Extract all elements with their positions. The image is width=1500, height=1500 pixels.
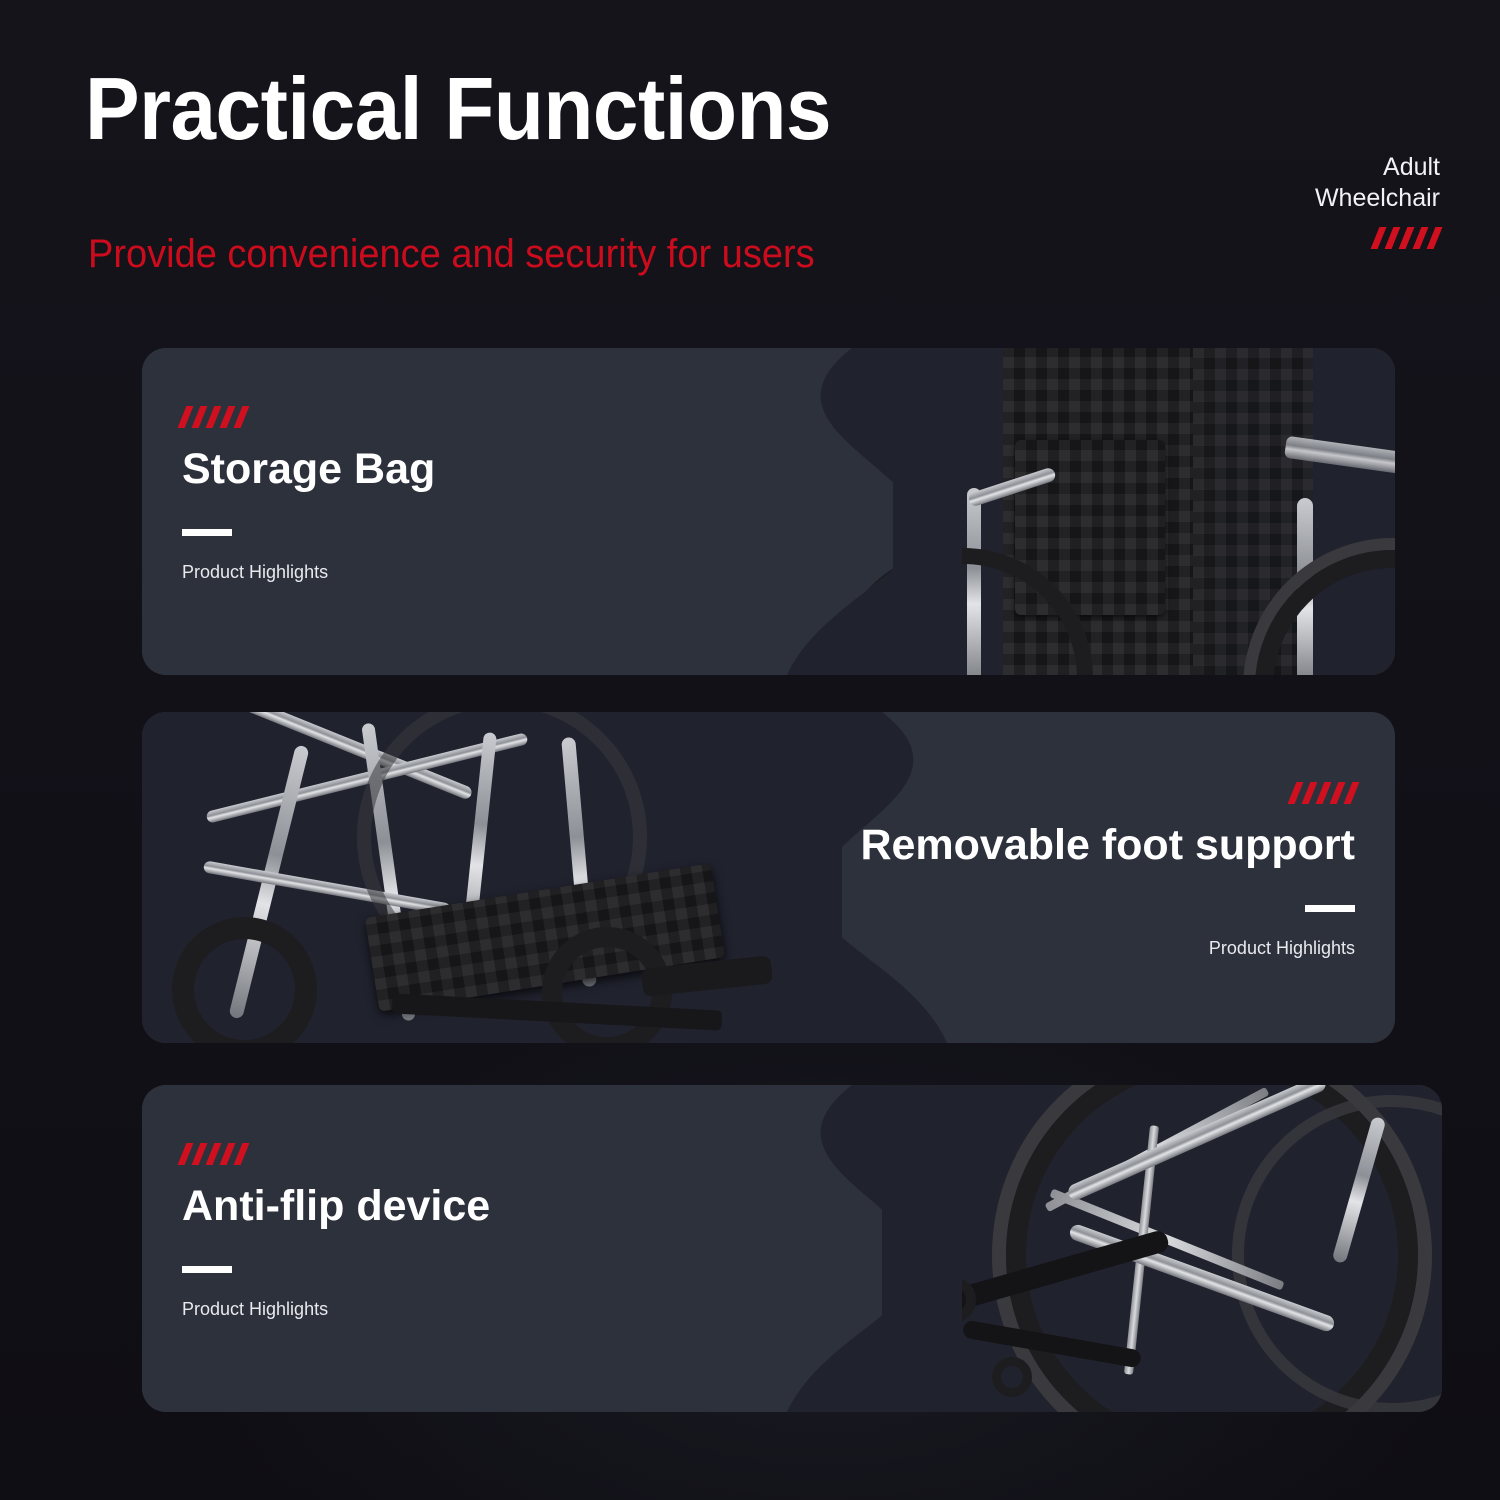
storage-bag-text: Storage Bag Product Highlights bbox=[182, 406, 435, 583]
page-title: Practical Functions bbox=[85, 63, 831, 155]
title-underline bbox=[1305, 905, 1355, 912]
feature-card-anti-flip-device[interactable]: Anti-flip device Product Highlights bbox=[142, 1085, 1442, 1412]
slash-accent-icon bbox=[182, 1143, 490, 1165]
storage-bag-photo bbox=[893, 348, 1395, 675]
foot-support-text: Removable foot support Product Highlight… bbox=[860, 782, 1355, 959]
card-title: Storage Bag bbox=[182, 446, 435, 493]
poster-page: Practical Functions Provide convenience … bbox=[0, 0, 1500, 1500]
slash-accent-icon bbox=[1315, 227, 1438, 249]
slash-accent-icon bbox=[182, 406, 435, 428]
title-underline bbox=[182, 529, 232, 536]
card-wave-divider bbox=[702, 1085, 962, 1412]
anti-flip-text: Anti-flip device Product Highlights bbox=[182, 1143, 490, 1320]
card-title: Removable foot support bbox=[860, 822, 1355, 869]
card-title: Anti-flip device bbox=[182, 1183, 490, 1230]
feature-card-removable-foot-support[interactable]: Removable foot support Product Highlight… bbox=[142, 712, 1395, 1043]
anti-flip-photo bbox=[882, 1085, 1442, 1412]
slash-accent-icon bbox=[860, 782, 1355, 804]
card-subtitle: Product Highlights bbox=[860, 938, 1355, 959]
brand-line-1: Adult bbox=[1315, 152, 1440, 183]
card-subtitle: Product Highlights bbox=[182, 1299, 490, 1320]
title-underline bbox=[182, 1266, 232, 1273]
foot-support-photo bbox=[142, 712, 842, 1043]
poster-header: Practical Functions Provide convenience … bbox=[0, 0, 1500, 330]
page-subtitle: Provide convenience and security for use… bbox=[88, 232, 815, 277]
brand-block: Adult Wheelchair bbox=[1315, 152, 1440, 249]
card-wave-divider bbox=[702, 348, 962, 675]
brand-line-2: Wheelchair bbox=[1315, 183, 1440, 214]
feature-card-storage-bag[interactable]: Storage Bag Product Highlights bbox=[142, 348, 1395, 675]
card-subtitle: Product Highlights bbox=[182, 562, 435, 583]
